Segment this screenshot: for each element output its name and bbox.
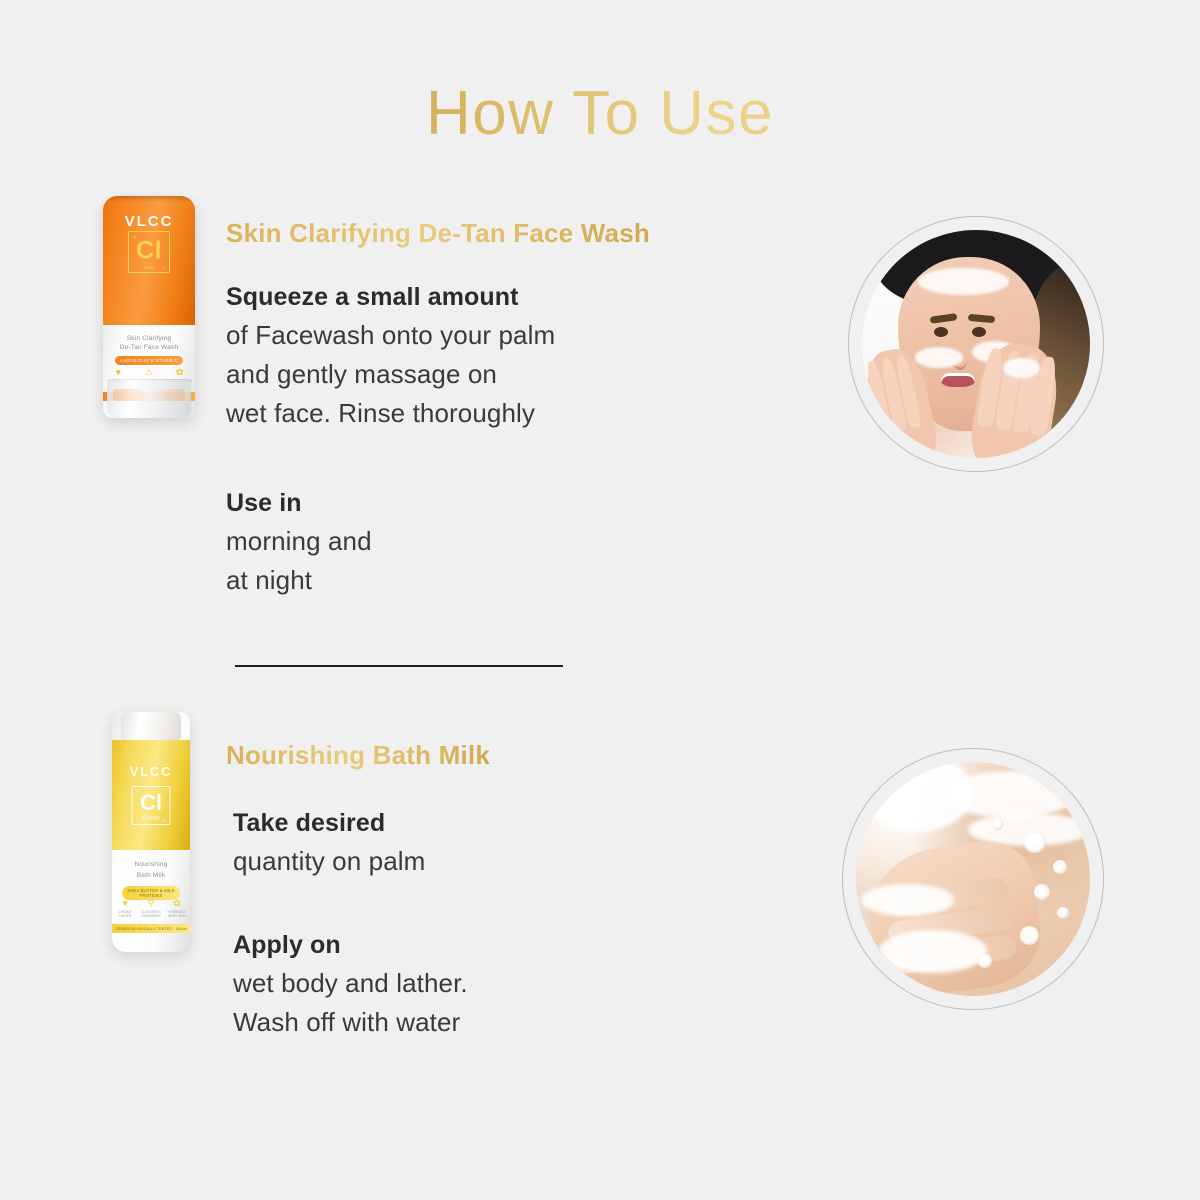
instruction-line-1-3: wet face. Rinse thoroughly: [226, 394, 555, 433]
photo-woman-washing-face: [848, 216, 1104, 472]
tube-body: VLCC 15 Cl Clinic 17 Skin Clarifying De-…: [103, 196, 195, 418]
instruction-line-4-2: Wash off with water: [233, 1003, 468, 1042]
pack-symbol-tiny-left: 15: [136, 789, 140, 793]
bubble: [1053, 860, 1067, 874]
bubble: [992, 818, 1004, 830]
pack-bottom-strip: DERMATOLOGICALLY TESTED · 200ml: [112, 924, 190, 933]
instruction-lead-2: Use in: [226, 486, 372, 522]
bottle-white-panel: Nourishing Bath Milk SHEA BUTTER & MILK …: [112, 850, 190, 952]
instruction-block-1: Squeeze a small amount of Facewash onto …: [226, 280, 555, 433]
instruction-block-4: Apply on wet body and lather. Wash off w…: [233, 928, 468, 1042]
droplet-icon: ⚲: [140, 899, 162, 908]
pack-benefit-icon-2: ⚲ CLEANSES & NOURISHES: [140, 899, 162, 919]
instruction-line-4-1: wet body and lather.: [233, 964, 468, 1003]
pack-benefit-icons: ♥ CREAMY LATHER ⚲ CLEANSES & NOURISHES ✿…: [112, 899, 190, 919]
pack-product-name-line-2: De-Tan Face Wash: [103, 343, 195, 353]
instruction-line-1-1: of Facewash onto your palm: [226, 316, 555, 355]
how-to-use-infographic: How To Use VLCC 15 Cl Clinic 17 Skin Cla…: [0, 0, 1200, 1200]
bath-milk-illustration: [856, 762, 1090, 996]
lather-swirl: [879, 930, 987, 972]
pack-symbol-subtext: Clinic: [143, 265, 154, 270]
instruction-block-2: Use in morning and at night: [226, 486, 372, 600]
photo-inner-face-wash: [862, 230, 1090, 458]
instruction-lead-3: Take desired: [233, 806, 425, 842]
pack-symbol-text: Cl: [136, 236, 162, 265]
lather-swirl: [861, 762, 973, 832]
foam-fingertips: [1003, 358, 1039, 379]
product-image-bath-milk-bottle: VLCC 15 Cl Clinic 17 Nourishing Bath Mil…: [112, 712, 190, 952]
instruction-lead-4: Apply on: [233, 928, 468, 964]
instruction-line-3-1: quantity on palm: [233, 842, 425, 881]
product-heading-bath-milk: Nourishing Bath Milk: [226, 740, 490, 771]
bubble: [1034, 884, 1050, 900]
hand: [861, 835, 1048, 996]
instruction-line-1-2: and gently massage on: [226, 355, 555, 394]
eye-right: [972, 327, 986, 337]
instruction-lead-1: Squeeze a small amount: [226, 280, 555, 316]
pack-benefit-caption-1: CREAMY LATHER: [114, 910, 136, 919]
flower-icon: ✿: [166, 899, 188, 908]
pack-benefit-icon-3: ✿ HYDRATES BODY SKIN: [166, 899, 188, 919]
pack-symbol-subtext: Clinic: [142, 815, 160, 822]
bubble: [978, 954, 992, 968]
pack-benefit-icon-1: ♥ CREAMY LATHER: [114, 899, 136, 919]
no-chemicals-icon: ⚠: [136, 368, 162, 377]
pack-cl-symbol-box: 15 Cl Clinic 17: [132, 786, 171, 825]
pack-product-name-line-2: Bath Milk: [112, 871, 190, 881]
product-heading-face-wash: Skin Clarifying De-Tan Face Wash: [226, 218, 650, 249]
pack-product-name-line-1: Nourishing: [112, 860, 190, 870]
bubble: [1020, 926, 1039, 945]
pack-symbol-text: Cl: [140, 790, 162, 816]
pack-benefit-caption-2: CLEANSES & NOURISHES: [140, 910, 162, 919]
bottle-cap: [121, 712, 182, 740]
instruction-line-2-1: morning and: [226, 522, 372, 561]
pack-brand-label: VLCC: [103, 213, 195, 230]
pack-benefit-caption-3: HYDRATES BODY SKIN: [166, 910, 188, 919]
foam-forehead: [918, 268, 1008, 296]
bubble: [1024, 832, 1045, 853]
bottle-yellow-label: VLCC 15 Cl Clinic 17: [112, 740, 190, 850]
heart-icon: ♥: [105, 368, 131, 377]
section-divider: [235, 665, 563, 667]
eyebrow-right: [967, 313, 994, 322]
pack-ingredient-badge: KAOLIN CLAY & VITAMIN C: [115, 356, 183, 365]
instruction-line-2-2: at night: [226, 561, 372, 600]
tube-upper-orange-panel: VLCC 15 Cl Clinic 17: [103, 196, 195, 325]
product-image-face-wash-tube: VLCC 15 Cl Clinic 17 Skin Clarifying De-…: [103, 196, 195, 418]
eyebrow-left: [929, 313, 957, 324]
tube-transparent-cap: [107, 379, 192, 418]
page-title: How To Use: [0, 78, 1200, 149]
smile: [941, 373, 975, 387]
bubble: [1057, 907, 1069, 919]
flower-icon: ✿: [167, 368, 193, 377]
face-wash-illustration: [862, 230, 1090, 458]
photo-hand-lathering-soap: [842, 748, 1104, 1010]
heart-icon: ♥: [114, 899, 136, 908]
pack-symbol-tiny-right: 17: [163, 819, 167, 823]
pack-product-name-line-1: Skin Clarifying: [103, 334, 195, 344]
pack-symbol-tiny-right: 17: [162, 265, 166, 270]
eye-left: [934, 327, 948, 337]
pack-cl-symbol-box: 15 Cl Clinic 17: [128, 231, 170, 273]
photo-inner-bath-milk: [856, 762, 1090, 996]
instruction-block-3: Take desired quantity on palm: [233, 806, 425, 881]
bottle-body: VLCC 15 Cl Clinic 17 Nourishing Bath Mil…: [112, 712, 190, 952]
pack-brand-label: VLCC: [112, 764, 190, 779]
